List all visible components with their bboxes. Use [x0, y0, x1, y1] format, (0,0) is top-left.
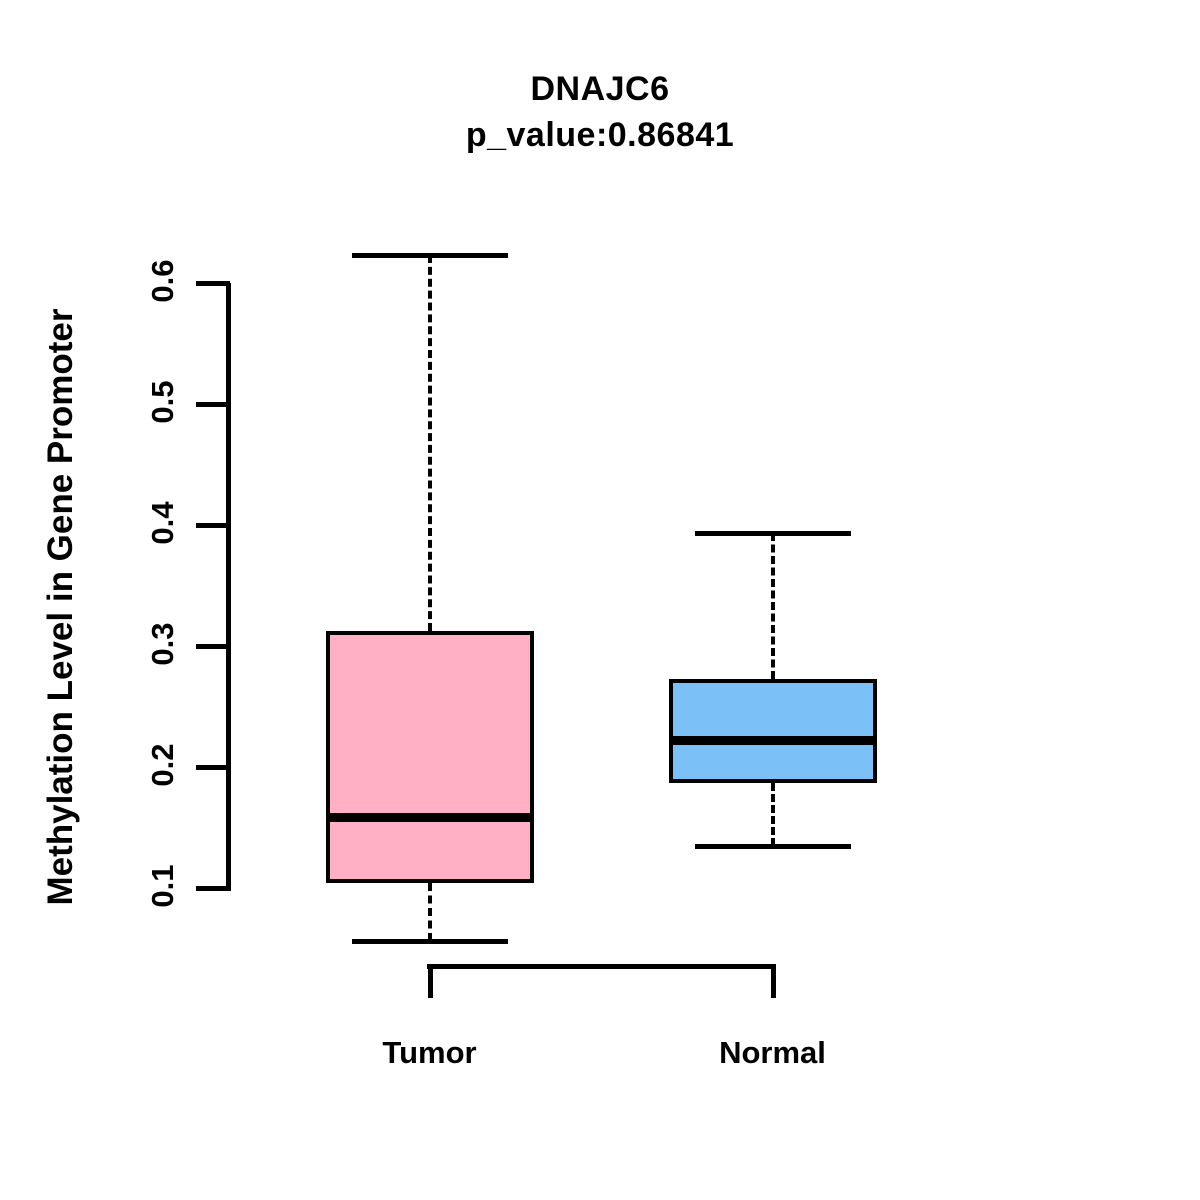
whisker-lower-tumor [428, 883, 432, 941]
box-normal [669, 679, 877, 783]
y-tick-label-0.6: 0.6 [145, 236, 181, 326]
plot-area: 0.10.20.30.40.50.6 TumorNormal [0, 0, 1200, 1200]
x-axis-line [427, 964, 774, 969]
whisker-upper-normal [771, 533, 775, 678]
whisker-cap-lower-normal [695, 844, 851, 849]
y-tick-label-0.1: 0.1 [145, 841, 181, 931]
boxplot-figure: DNAJC6 p_value:0.86841 Methylation Level… [0, 0, 1200, 1200]
x-tick-normal [771, 964, 776, 998]
y-tick-0.6 [196, 281, 230, 286]
y-tick-0.2 [196, 765, 230, 770]
whisker-cap-upper-normal [695, 531, 851, 536]
x-tick-label-normal: Normal [719, 1035, 826, 1071]
y-tick-label-0.2: 0.2 [145, 720, 181, 810]
median-line-tumor [326, 813, 534, 822]
whisker-lower-normal [771, 783, 775, 846]
median-line-normal [669, 736, 877, 745]
whisker-upper-tumor [428, 255, 432, 631]
y-tick-0.5 [196, 402, 230, 407]
y-tick-label-0.4: 0.4 [145, 478, 181, 568]
y-axis-line [226, 283, 231, 891]
y-tick-0.1 [196, 886, 230, 891]
y-tick-label-0.3: 0.3 [145, 599, 181, 689]
x-tick-tumor [428, 964, 433, 998]
y-tick-0.3 [196, 644, 230, 649]
whisker-cap-upper-tumor [352, 253, 508, 258]
y-tick-label-0.5: 0.5 [145, 357, 181, 447]
x-tick-label-tumor: Tumor [382, 1035, 476, 1071]
whisker-cap-lower-tumor [352, 939, 508, 944]
y-tick-0.4 [196, 523, 230, 528]
box-tumor [326, 631, 534, 883]
